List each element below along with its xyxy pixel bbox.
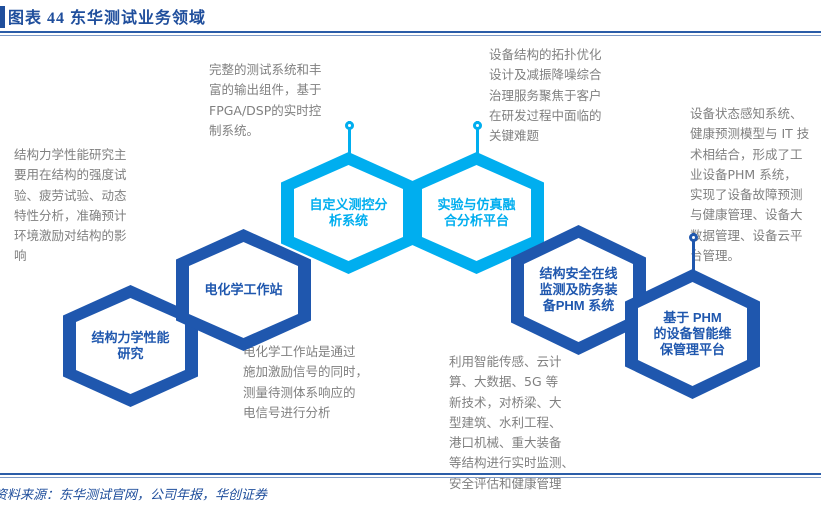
note-electrochemical-workstation: 电化学工作站是通过 施加激励信号的同时， 测量待测体系响应的 电信号进行分析	[243, 342, 403, 423]
header-accent-bar	[0, 6, 5, 28]
note-custom-measurement-system: 完整的测试系统和丰 富的输出组件，基于 FPGA/DSP的实时控 制系统。	[209, 60, 359, 141]
note-phm-maintenance-platform: 设备状态感知系统、 健康预测模型与 IT 技 术相结合，形成了工 业设备PHM …	[690, 104, 818, 266]
note-simulation-fusion-platform: 设备结构的拓扑优化 设计及减振降噪综合 治理服务聚焦于客户 在研发过程中面临的 …	[489, 45, 639, 146]
header-divider	[0, 31, 821, 33]
hex-label: 电化学工作站	[194, 282, 292, 298]
hex-label: 基于 PHM 的设备智能维 保管理平台	[643, 310, 741, 359]
footer-divider-thin	[0, 477, 821, 478]
hex-label: 自定义测控分 析系统	[299, 197, 397, 230]
footer-divider	[0, 473, 821, 475]
page-title: 图表 44 东华测试业务领域	[8, 4, 206, 28]
hex-label: 结构安全在线 监测及防务装 备PHM 系统	[529, 266, 627, 315]
source-note: 资料来源：东华测试官网，公司年报，华创证券	[0, 484, 267, 503]
note-structural-mechanics: 结构力学性能研究主 要用在结构的强度试 验、疲劳试验、动态 特性分析，准确预计 …	[14, 145, 159, 267]
figure-root: 图表 44 东华测试业务领域 结构力学性能研究主 要用在结构的强度试 验、疲劳试…	[0, 0, 821, 507]
hex-node-custom-measurement-system[interactable]: 自定义测控分 析系统	[281, 152, 416, 274]
figure-footer: 资料来源：东华测试官网，公司年报，华创证券	[0, 473, 821, 507]
diagram-canvas: 结构力学性能研究主 要用在结构的强度试 验、疲劳试验、动态 特性分析，准确预计 …	[0, 36, 821, 474]
hex-label: 实验与仿真融 合分析平台	[427, 197, 525, 230]
figure-header: 图表 44 东华测试业务领域	[0, 0, 821, 36]
hex-node-phm-maintenance-platform[interactable]: 基于 PHM 的设备智能维 保管理平台	[625, 269, 760, 399]
hex-label: 结构力学性能 研究	[81, 330, 179, 363]
